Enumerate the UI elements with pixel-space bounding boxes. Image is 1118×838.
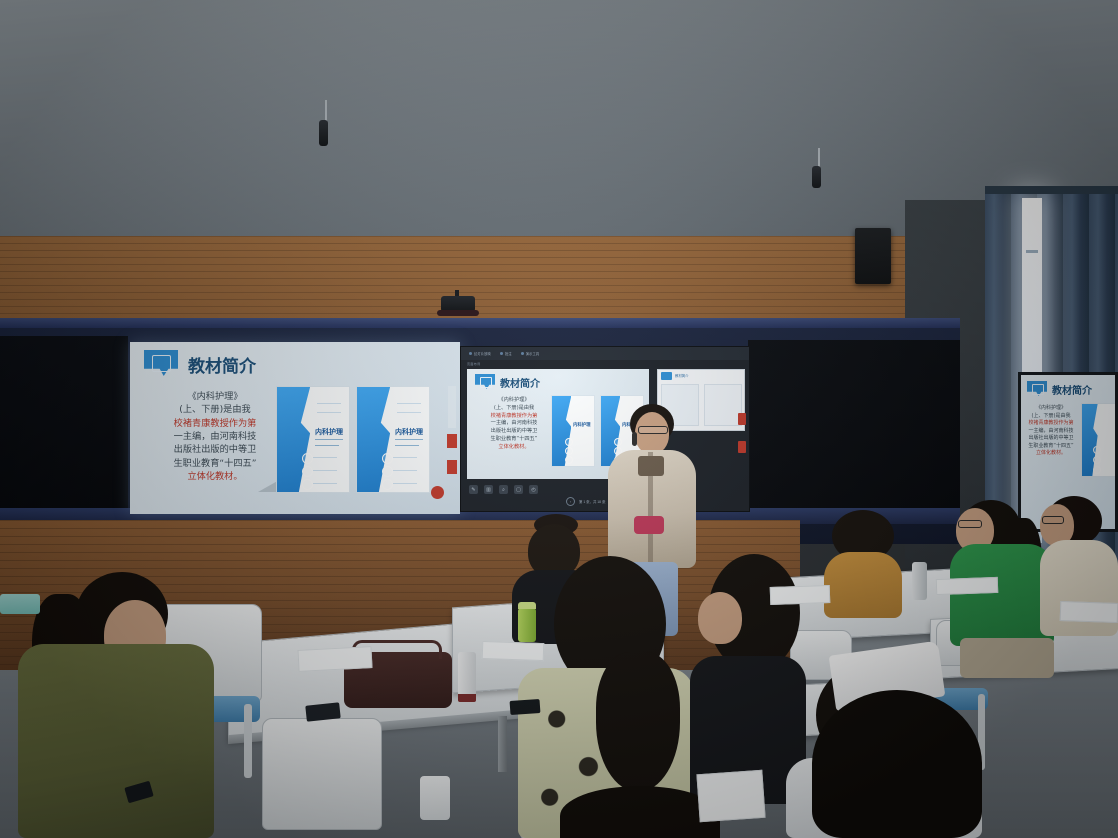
slide-line-4: 出版社出版的中等卫: [158, 443, 272, 456]
slide-line-1: (上、下册)是由我: [1025, 413, 1077, 421]
slide-body: 《内科护理》 (上、下册)是由我 校褚青康教授作为第 一主编，由河南科技 出版社…: [481, 397, 547, 452]
prev-slide-button[interactable]: ‹: [566, 497, 575, 506]
window-frame: [1026, 250, 1038, 253]
mustard-top: [824, 552, 902, 618]
slide-line-3: 一主编，由河南科技: [158, 430, 272, 443]
glasses-icon: [958, 520, 982, 528]
smartphone-table: [510, 699, 541, 715]
bottle-green: [518, 608, 536, 642]
book-title-1: 内科护理: [315, 427, 343, 437]
slide-line-6: 立体化教材。: [481, 444, 547, 452]
thermos-white: [458, 652, 476, 696]
left-projection-screen[interactable]: 教材简介 《内科护理》 (上、下册)是由我 校褚青康教授作为第 一主编，由河南科…: [130, 342, 460, 514]
papers: [297, 646, 372, 672]
attendee-mustard-top: [820, 510, 906, 618]
slide-title: 教材简介: [500, 375, 540, 390]
pen-tool-icon[interactable]: ✎: [469, 485, 478, 494]
tab-dot-icon: [500, 352, 503, 355]
tab-presentation-tools-label: 演示工具: [526, 351, 540, 356]
book-title-2: 内科护理: [395, 427, 423, 437]
attendee-olive-jacket: [18, 572, 218, 838]
glasses-icon: [638, 426, 668, 434]
slide-line-6: 立体化教材。: [1025, 450, 1077, 458]
tab-slideshow[interactable]: 幻灯片放映: [469, 351, 491, 356]
attendee-dark-foreground: [812, 690, 982, 838]
classroom-photo: 教材简介 《内科护理》 (上、下册)是由我 校褚青康教授作为第 一主编，由河南科…: [0, 0, 1118, 838]
glasses-icon: [1042, 516, 1064, 524]
curtain-rail: [985, 186, 1118, 194]
slide-left: 教材简介 《内科护理》 (上、下册)是由我 校褚青康教授作为第 一主编，由河南科…: [130, 342, 460, 514]
eraser-tool-icon[interactable]: ▥: [484, 485, 493, 494]
slide-line-2: 校褚青康教授作为第: [158, 417, 272, 430]
headset-microphone-icon: [632, 432, 637, 446]
annotation-toolbar[interactable]: ✎ ▥ ⌕ ▢ ◴: [469, 485, 538, 494]
attendee-foreground-bottom: [560, 786, 720, 838]
thermos-base: [458, 694, 476, 702]
exit-button[interactable]: [738, 441, 746, 453]
spotlight-tool-icon[interactable]: ▢: [514, 485, 523, 494]
book-cover-1: [1081, 403, 1117, 477]
board-top-trim: [0, 318, 960, 328]
papers: [482, 641, 545, 661]
magnifier-tool-icon[interactable]: ⌕: [499, 485, 508, 494]
bottle-green-cap: [518, 602, 536, 609]
book-icon: [152, 355, 171, 372]
slide-line-5: 生职业教育“十四五”: [158, 457, 272, 470]
tab-annotate[interactable]: 批注: [500, 351, 512, 356]
head: [698, 592, 742, 644]
slide-line-4: 出版社出版的中等卫: [481, 428, 547, 436]
ceiling-sensor-2: [812, 166, 821, 188]
panel-badge-icon: [661, 372, 672, 380]
green-sweater: [950, 544, 1054, 646]
slide-title: 教材简介: [1052, 382, 1092, 397]
book-title-1: 内科护理: [573, 422, 591, 428]
ceiling-sensor-wire-2: [818, 148, 820, 168]
slide-body: 《内科护理》 (上、下册)是由我 校褚青康教授作为第 一主编，由河南科技 出版社…: [158, 390, 272, 483]
slide-line-5: 生职业教育“十四五”: [481, 436, 547, 444]
book-cover-1: 内科护理: [551, 395, 595, 467]
book-cover-1: 内科护理: [276, 386, 350, 493]
hair: [560, 786, 720, 838]
blackboard-right: [748, 340, 960, 508]
papers: [936, 577, 999, 595]
chair-leg: [244, 704, 252, 778]
hair-long: [596, 652, 680, 792]
slide-side-strip: [448, 386, 456, 428]
tab-slideshow-label: 幻灯片放映: [474, 351, 491, 356]
close-button[interactable]: [738, 413, 746, 425]
book-icon: [480, 377, 492, 388]
ceiling-sensor-wire-1: [325, 100, 327, 122]
ceiling-sensor-1: [319, 120, 328, 146]
slide-line-6: 立体化教材。: [158, 470, 272, 483]
slide-line-2: 校褚青康教授作为第: [1025, 420, 1077, 428]
lanyard-icon: [638, 456, 664, 476]
panel-title: 教材简介: [675, 373, 689, 378]
seat-tablet-arm: [420, 776, 450, 820]
wall-speaker: [855, 228, 891, 284]
chair-foreground-left[interactable]: [262, 718, 382, 830]
slide-logo-stamp: [431, 486, 444, 499]
bottle-grey: [912, 562, 927, 600]
slide-line-1: (上、下册)是由我: [158, 403, 272, 416]
notebook: [696, 770, 765, 822]
pager-text: 第 1 张，共 18 张: [579, 499, 605, 504]
slide-title: 教材简介: [188, 352, 256, 377]
slide-line-0: 《内科护理》: [1025, 405, 1077, 413]
blackboard-left: [0, 336, 128, 508]
book-cover-2: 内科护理: [356, 386, 430, 493]
papers: [1060, 601, 1118, 623]
whiteboard-toolbar[interactable]: 幻灯片放映 批注 演示工具: [461, 347, 749, 360]
slide-line-1: (上、下册)是由我: [481, 405, 547, 413]
book-icon: [1032, 384, 1044, 395]
tissue-box: [0, 594, 40, 614]
tab-annotate-label: 批注: [505, 351, 512, 356]
whiteboard-subbar-label: 页面布局: [467, 362, 481, 366]
slide-line-0: 《内科护理》: [158, 390, 272, 403]
camera-base: [437, 310, 479, 316]
timer-tool-icon[interactable]: ◴: [529, 485, 538, 494]
slide-line-3: 一主编，由河南科技: [1025, 428, 1077, 436]
tab-dot-icon: [521, 352, 524, 355]
slide-red-tab-1: [447, 434, 457, 448]
slide-red-tab-2: [447, 460, 457, 474]
olive-jacket: [18, 644, 214, 838]
slide-line-4: 出版社出版的中等卫: [1025, 435, 1077, 443]
hair: [812, 690, 982, 838]
panel-text-block-right: [704, 384, 742, 426]
tab-presentation-tools[interactable]: 演示工具: [521, 351, 540, 356]
handheld-clicker: [634, 516, 664, 534]
tab-dot-icon: [469, 352, 472, 355]
slide-line-0: 《内科护理》: [481, 397, 547, 405]
slide-body: 《内科护理》 (上、下册)是由我 校褚青康教授作为第 一主编，由河南科技 出版社…: [1025, 405, 1077, 458]
table-leg: [498, 716, 507, 772]
papers: [770, 585, 831, 605]
slide-line-5: 生职业教育“十四五”: [1025, 443, 1077, 451]
